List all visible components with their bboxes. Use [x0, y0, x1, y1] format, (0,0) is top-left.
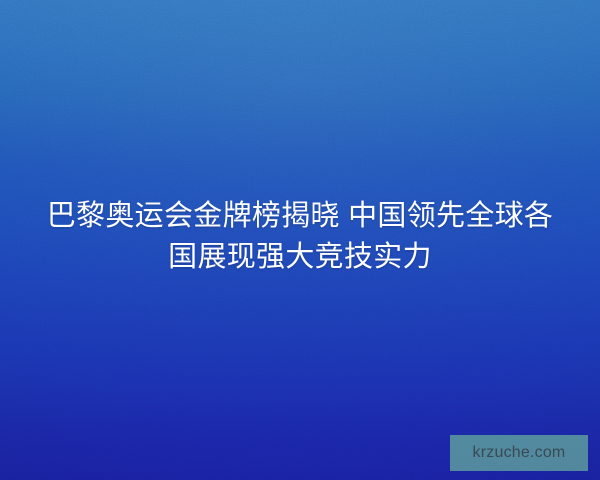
news-title-card: 巴黎奥运会金牌榜揭晓 中国领先全球各国展现强大竞技实力 krzuche.com	[0, 0, 600, 480]
page-title: 巴黎奥运会金牌榜揭晓 中国领先全球各国展现强大竞技实力	[36, 196, 564, 278]
watermark-label: krzuche.com	[473, 445, 566, 461]
watermark-badge: krzuche.com	[450, 435, 588, 471]
headline-container: 巴黎奥运会金牌榜揭晓 中国领先全球各国展现强大竞技实力	[0, 196, 600, 278]
